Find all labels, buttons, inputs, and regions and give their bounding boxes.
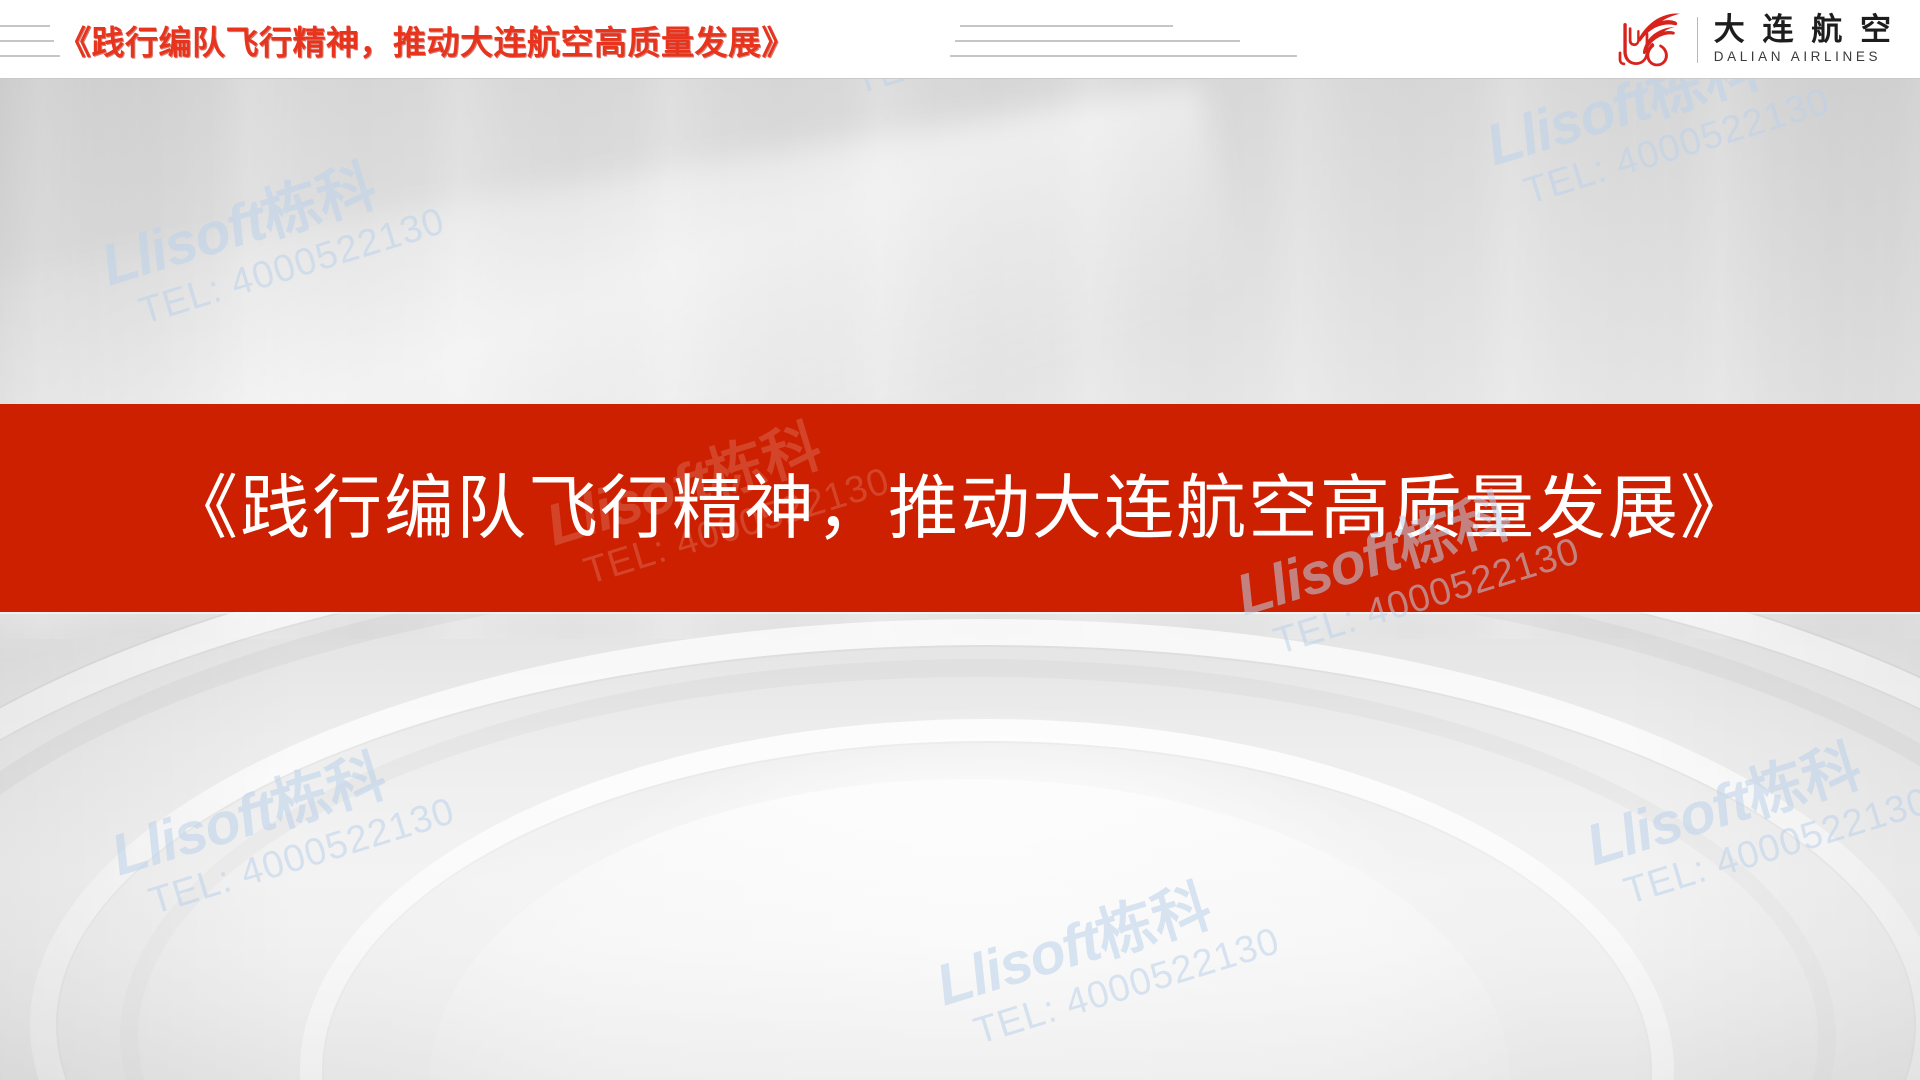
logo-name-cn: 大 连 航 空	[1714, 14, 1896, 47]
dalian-airlines-logo: 大 连 航 空 DALIAN AIRLINES	[1615, 9, 1896, 71]
header-decor-line-left-2	[0, 40, 54, 42]
presentation-slide: 《践行编队飞行精神，推动大连航空高质量发展》 Llisoft栋科 TEL: 40…	[0, 0, 1920, 1080]
background-front-haze	[0, 780, 1920, 1080]
logo-wordmark: 大 连 航 空 DALIAN AIRLINES	[1714, 14, 1896, 65]
stage-ring-outer-2	[0, 549, 1920, 1080]
header-decor-line-left-3	[0, 55, 60, 57]
stage-ring-hatching-middle	[30, 619, 1890, 1080]
header-decor-line-right-1	[960, 25, 1173, 27]
banner-title-text: 《践行编队飞行精神，推动大连航空高质量发展》	[168, 473, 1752, 543]
stage-ring-inner	[300, 719, 1674, 1080]
dalian-airlines-crane-icon	[1615, 11, 1683, 69]
header-decor-line-right-3	[950, 55, 1297, 57]
stage-ring-middle-2	[120, 659, 1836, 1080]
title-banner: 《践行编队飞行精神，推动大连航空高质量发展》	[0, 404, 1920, 612]
header-decor-line-left-1	[0, 25, 50, 27]
header-title-text: 《践行编队飞行精神，推动大连航空高质量发展》	[58, 16, 795, 64]
header-decor-line-right-2	[955, 40, 1240, 42]
stage-center-spotlight	[430, 779, 1510, 1080]
slide-header: 《践行编队飞行精神，推动大连航空高质量发展》	[0, 0, 1920, 79]
header-bottom-rule	[0, 78, 1920, 79]
logo-name-en: DALIAN AIRLINES	[1714, 49, 1896, 65]
logo-divider	[1697, 17, 1698, 63]
stage-ring-middle	[30, 619, 1920, 1080]
